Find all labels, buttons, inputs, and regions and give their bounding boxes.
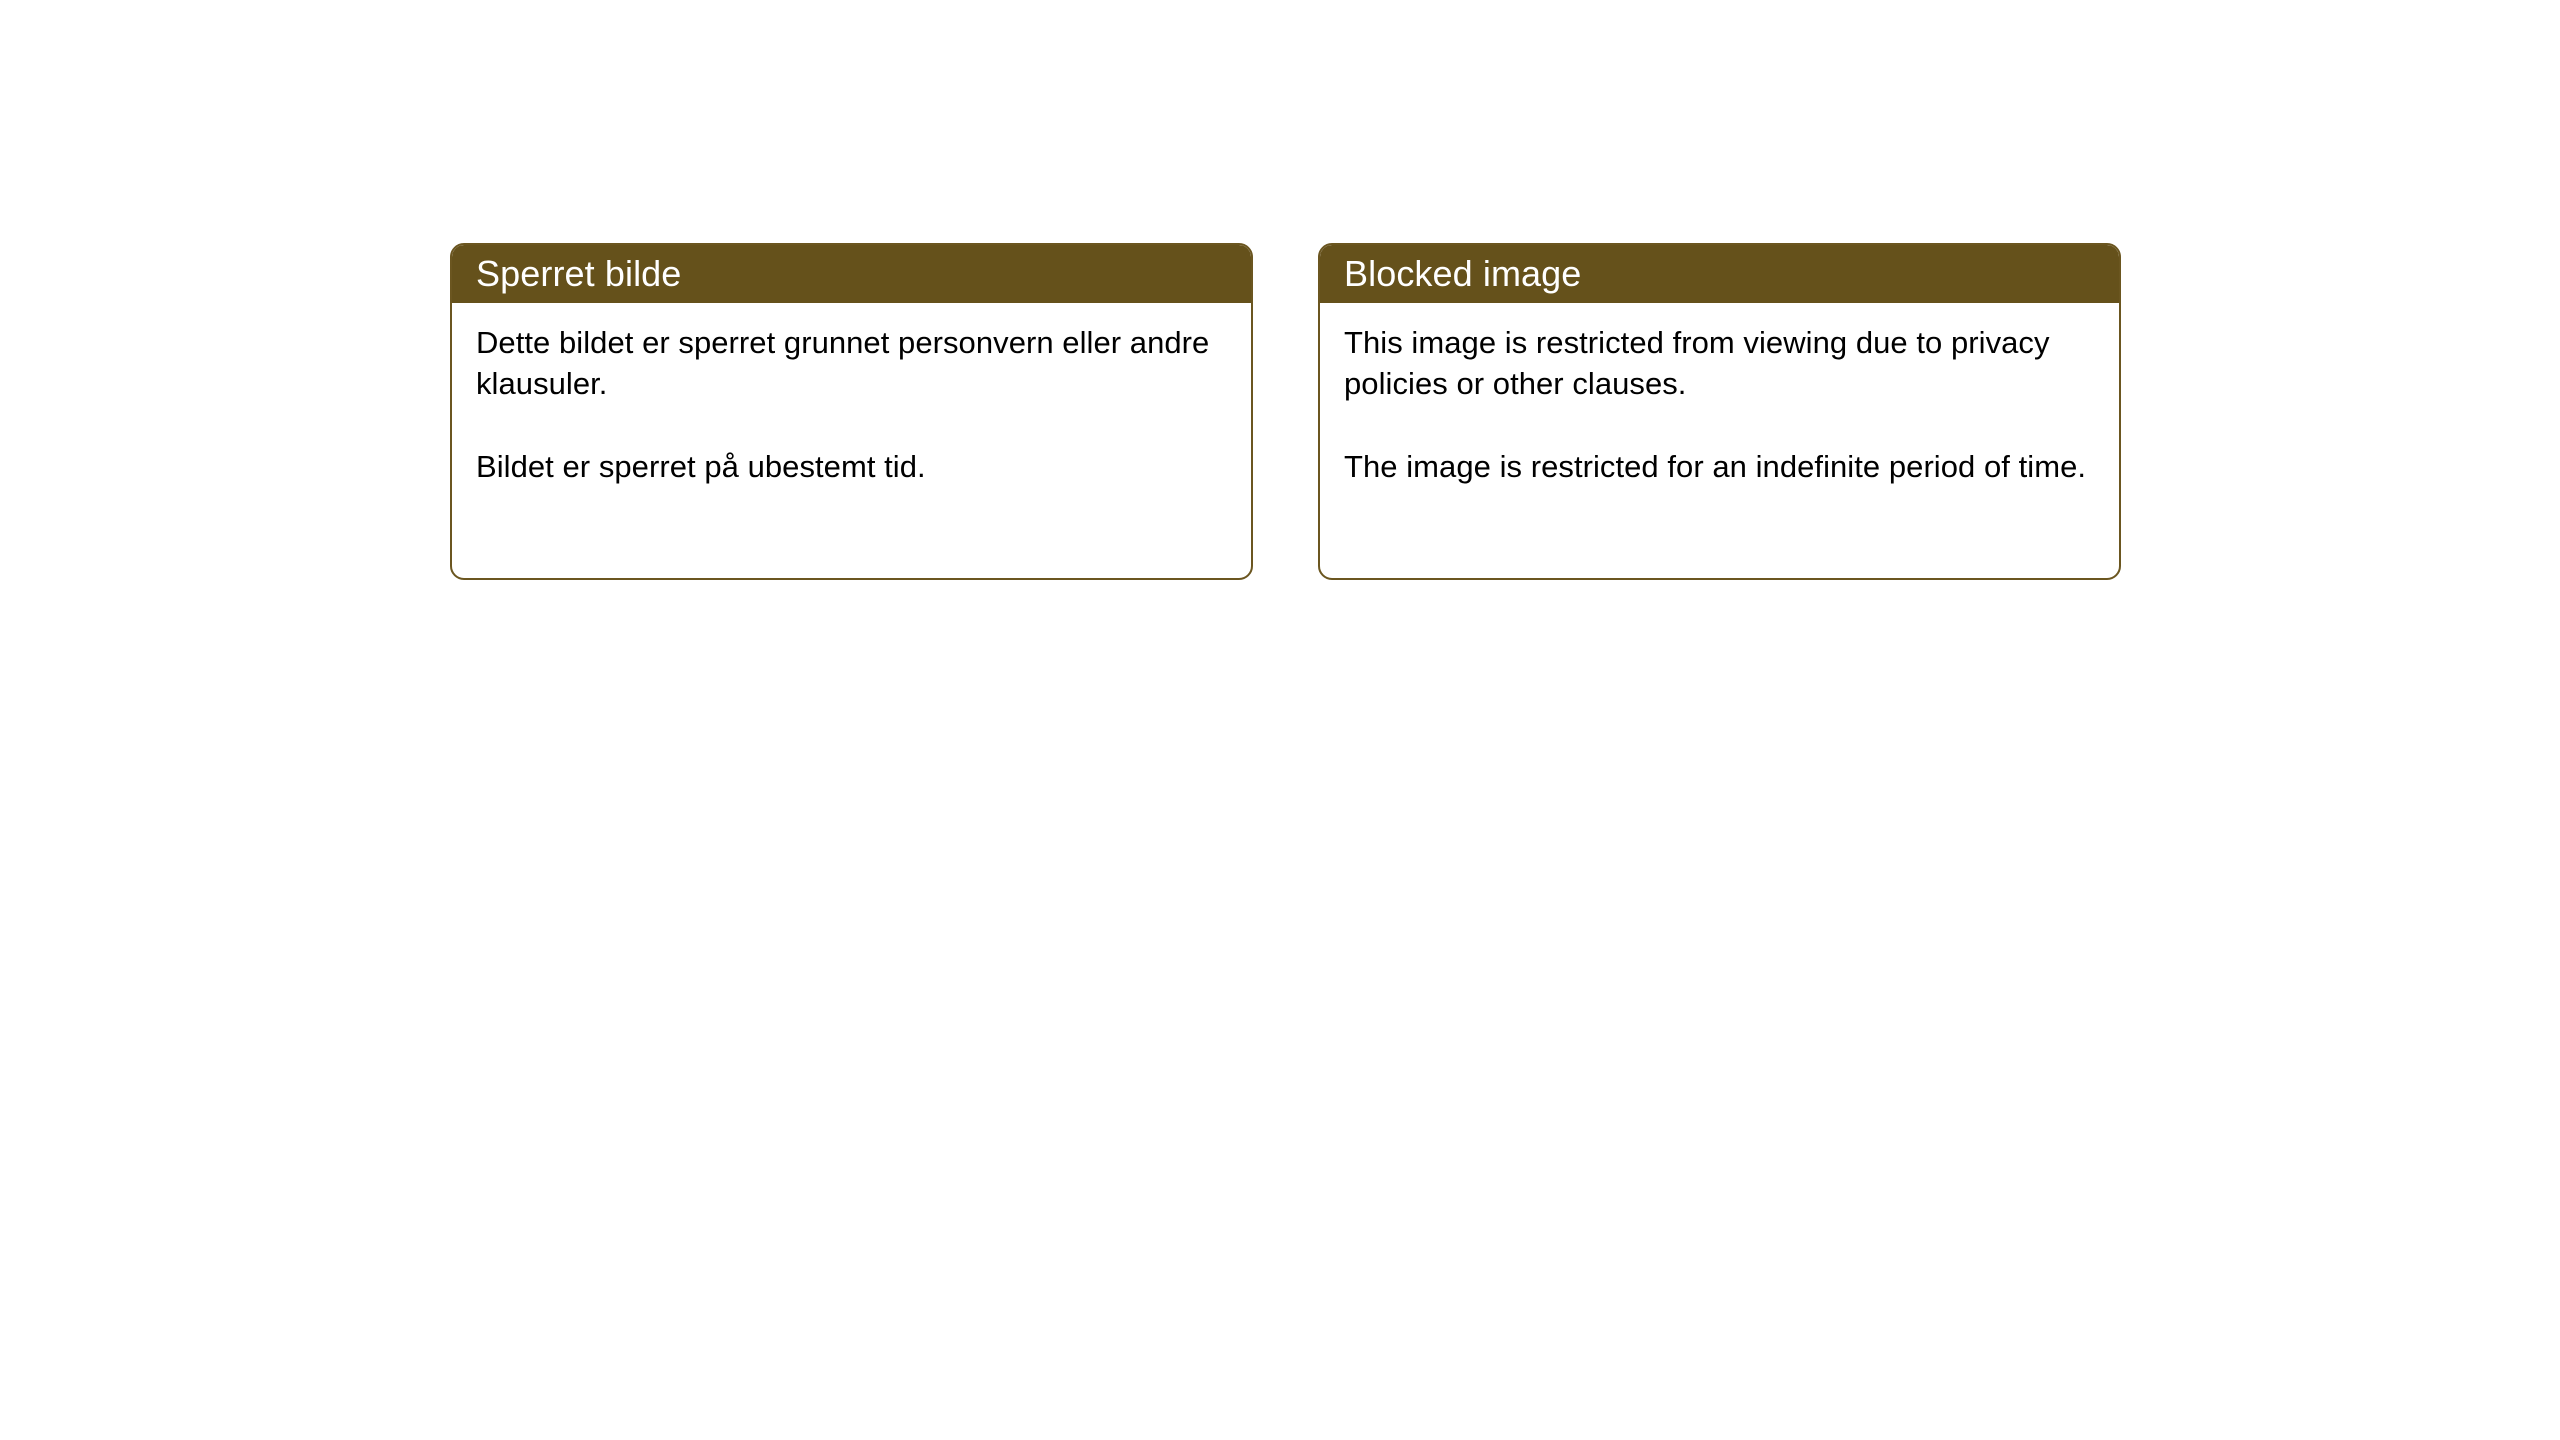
card-title-english: Blocked image — [1344, 256, 1581, 292]
blocked-image-card-english: Blocked image This image is restricted f… — [1318, 243, 2121, 580]
card-body-norwegian: Dette bildet er sperret grunnet personve… — [452, 303, 1251, 488]
card-title-norwegian: Sperret bilde — [476, 256, 681, 292]
page-canvas: Sperret bilde Dette bildet er sperret gr… — [0, 0, 2560, 1440]
card-paragraph-duration-english: The image is restricted for an indefinit… — [1344, 447, 2097, 488]
card-paragraph-reason-english: This image is restricted from viewing du… — [1344, 323, 2097, 405]
card-paragraph-reason-norwegian: Dette bildet er sperret grunnet personve… — [476, 323, 1229, 405]
blocked-image-card-norwegian: Sperret bilde Dette bildet er sperret gr… — [450, 243, 1253, 580]
card-paragraph-duration-norwegian: Bildet er sperret på ubestemt tid. — [476, 447, 1229, 488]
card-header-english: Blocked image — [1320, 245, 2119, 303]
card-header-norwegian: Sperret bilde — [452, 245, 1251, 303]
card-body-english: This image is restricted from viewing du… — [1320, 303, 2119, 488]
